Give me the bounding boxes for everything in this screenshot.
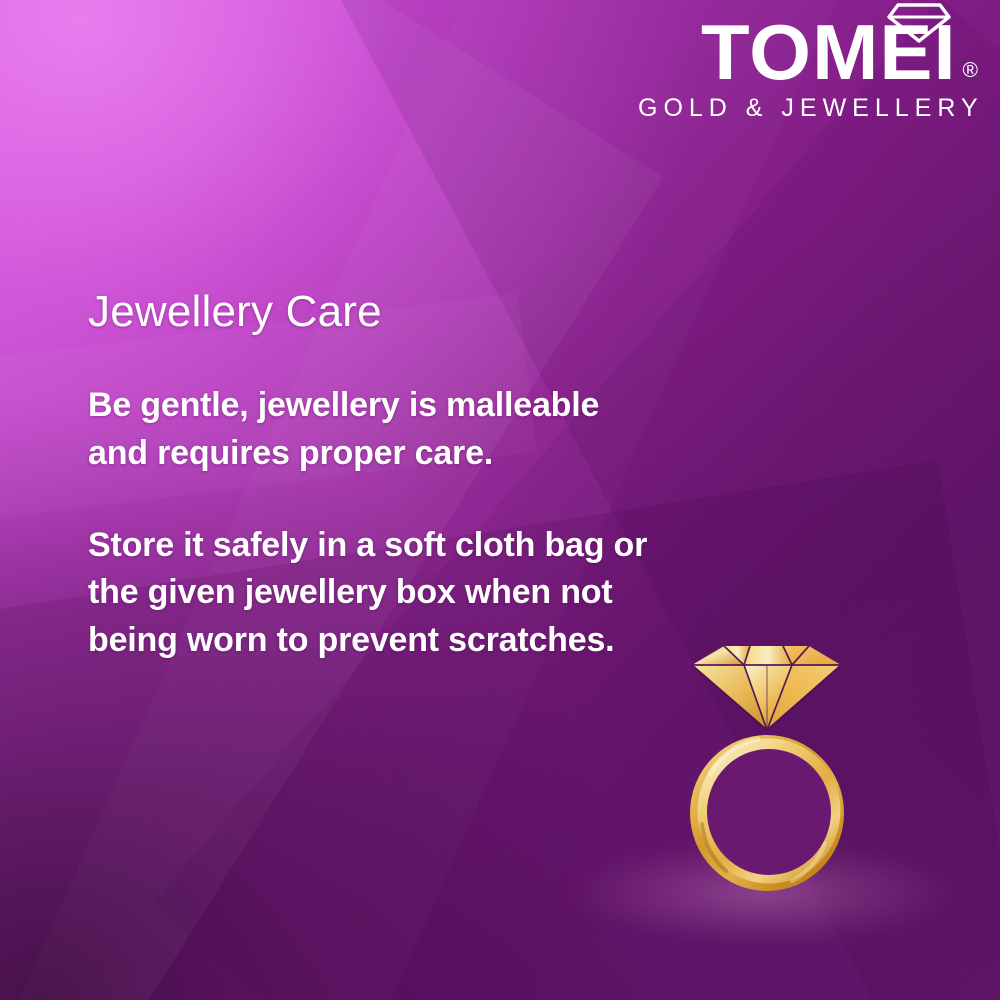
- poster-canvas: TOMEI ® GOLD & JEWELLERY Jewellery Care …: [0, 0, 1000, 1000]
- gold-band: [690, 735, 844, 891]
- diamond-ring-illustration: [688, 638, 898, 910]
- page-title: Jewellery Care: [88, 288, 658, 336]
- diamond-gem: [692, 646, 841, 730]
- body-paragraph-1: Be gentle, jewellery is malleable and re…: [88, 382, 648, 477]
- tomei-logo: TOMEI ® GOLD & JEWELLERY: [638, 14, 978, 123]
- diamond-outline-icon: [886, 2, 952, 44]
- logo-wordmark-row: TOMEI ®: [638, 14, 978, 90]
- registered-trademark-icon: ®: [963, 60, 978, 81]
- copy-block: Jewellery Care Be gentle, jewellery is m…: [88, 288, 658, 664]
- logo-tagline: GOLD & JEWELLERY: [638, 94, 978, 123]
- body-paragraph-2: Store it safely in a soft cloth bag or t…: [88, 522, 648, 665]
